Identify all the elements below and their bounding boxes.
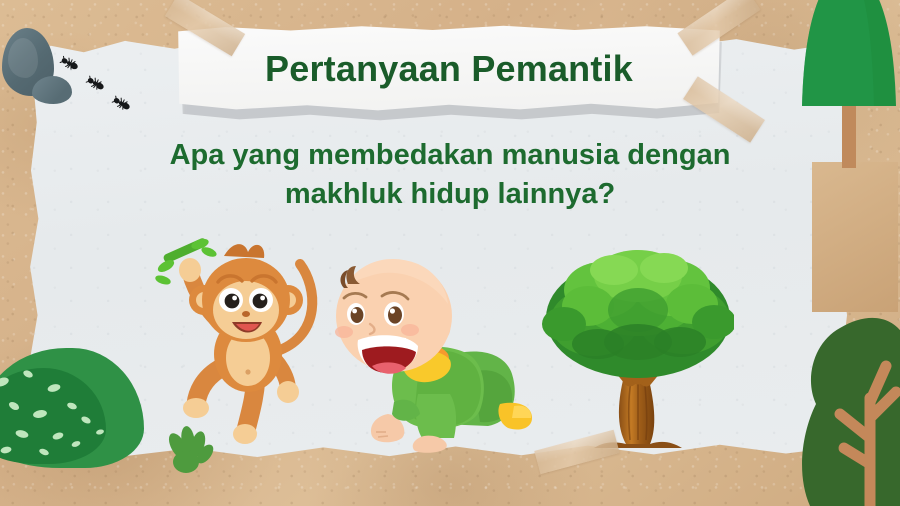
page-title: Pertanyaan Pemantik [176,22,722,116]
question-line-1: Apa yang membedakan manusia dengan [60,136,840,175]
rock-icon [32,76,72,104]
title-banner: Pertanyaan Pemantik [176,22,722,118]
tree-illustration [542,248,734,452]
slide-canvas: Pertanyaan Pemantik Apa yang membedakan … [0,0,900,506]
question-line-2: makhluk hidup lainnya? [60,175,840,214]
bush-speckles-icon [0,348,146,472]
monkey-illustration [152,238,338,452]
baby-illustration [322,254,558,456]
question-text: Apa yang membedakan manusia dengan makhl… [60,136,840,214]
tree-icon [800,306,900,506]
